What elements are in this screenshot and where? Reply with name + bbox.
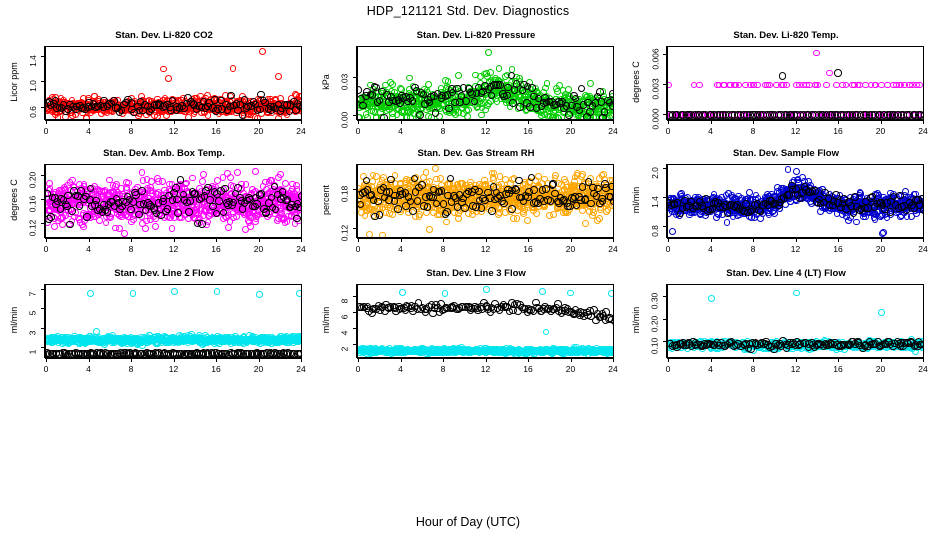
y-tick-label-wrap: 0.12 bbox=[33, 228, 43, 245]
data-point bbox=[524, 217, 531, 224]
data-point bbox=[258, 190, 266, 198]
x-tick bbox=[174, 120, 175, 124]
y-axis-label-gas-stream-rh: percent bbox=[321, 170, 331, 230]
page-title: HDP_121121 Std. Dev. Diagnostics bbox=[0, 4, 936, 18]
data-point bbox=[416, 111, 424, 119]
y-tick bbox=[41, 107, 45, 108]
data-point bbox=[530, 186, 538, 194]
y-tick-label-wrap: 0.000 bbox=[655, 119, 665, 140]
y-tick-label-wrap: 0.12 bbox=[345, 233, 355, 250]
x-tick-label: 24 bbox=[608, 244, 617, 254]
y-tick-label: 0.12 bbox=[340, 225, 350, 242]
data-point bbox=[172, 184, 180, 192]
data-point bbox=[298, 192, 302, 200]
x-tick bbox=[46, 120, 47, 124]
data-point bbox=[205, 112, 212, 119]
data-point-outlier bbox=[834, 69, 842, 77]
data-point bbox=[359, 102, 367, 110]
data-point bbox=[582, 220, 589, 227]
x-tick-label: 16 bbox=[211, 126, 220, 136]
data-point bbox=[92, 197, 100, 205]
data-point bbox=[921, 111, 924, 119]
x-tick-label: 20 bbox=[566, 126, 575, 136]
y-tick-label: 0.03 bbox=[340, 73, 350, 90]
data-point bbox=[83, 213, 91, 221]
data-point bbox=[215, 197, 223, 205]
data-point bbox=[508, 205, 516, 213]
data-point bbox=[587, 80, 594, 87]
x-axis-li820-temp: 04812162024 bbox=[667, 120, 924, 126]
data-point-outlier bbox=[277, 171, 284, 178]
y-tick-label-wrap: 0.03 bbox=[345, 82, 355, 99]
data-point bbox=[465, 107, 472, 114]
y-tick-label-wrap: 0.00 bbox=[345, 120, 355, 137]
chart-panel-li820-pressure: Stan. Dev. Li-820 Pressure0.000.03kPa048… bbox=[320, 30, 632, 150]
data-point bbox=[515, 177, 523, 185]
data-point bbox=[426, 226, 433, 233]
data-point-outlier bbox=[669, 228, 676, 235]
y-tick-label-wrap: 0.16 bbox=[33, 204, 43, 221]
y-axis-label-li820-temp: degrees C bbox=[631, 52, 641, 112]
data-point bbox=[424, 203, 432, 211]
data-point bbox=[667, 82, 672, 89]
data-point-outlier bbox=[483, 70, 490, 77]
y-axis-li820-co2: 0.61.01.4 bbox=[39, 46, 45, 120]
chart-panel-sample-flow: Stan. Dev. Sample Flow0.81.42.0ml/min048… bbox=[630, 148, 936, 268]
data-point bbox=[138, 187, 146, 195]
data-point-outlier bbox=[121, 230, 128, 237]
data-point bbox=[69, 177, 76, 184]
x-tick bbox=[571, 238, 572, 242]
y-tick-label: 0.000 bbox=[650, 108, 660, 129]
y-tick bbox=[41, 175, 45, 176]
x-tick-label: 8 bbox=[441, 126, 446, 136]
data-point bbox=[169, 225, 176, 232]
data-point-outlier bbox=[160, 66, 167, 73]
data-point bbox=[51, 223, 58, 230]
data-point bbox=[823, 82, 830, 89]
x-axis-li820-pressure: 04812162024 bbox=[357, 120, 614, 126]
data-point bbox=[198, 220, 206, 228]
x-tick-label: 4 bbox=[398, 126, 403, 136]
x-tick-label: 24 bbox=[296, 126, 305, 136]
data-point bbox=[443, 208, 451, 216]
x-tick bbox=[301, 238, 302, 242]
x-axis-gas-stream-rh: 04812162024 bbox=[357, 238, 614, 244]
data-point bbox=[609, 90, 614, 98]
data-point bbox=[423, 169, 430, 176]
x-tick bbox=[613, 238, 614, 242]
y-axis-line bbox=[666, 46, 667, 120]
x-tick bbox=[89, 120, 90, 124]
x-tick-label: 0 bbox=[356, 126, 361, 136]
data-point bbox=[578, 85, 586, 93]
data-point bbox=[380, 174, 387, 181]
y-axis-label-li820-co2: Licor ppm bbox=[9, 52, 19, 112]
data-point bbox=[418, 181, 426, 189]
data-point bbox=[174, 209, 182, 217]
x-tick-label: 12 bbox=[481, 244, 490, 254]
x-tick-label: 0 bbox=[666, 126, 671, 136]
x-tick-label: 8 bbox=[129, 126, 134, 136]
x-tick-label: 16 bbox=[833, 126, 842, 136]
data-point bbox=[500, 200, 508, 208]
y-tick bbox=[663, 54, 667, 55]
data-point bbox=[59, 221, 66, 228]
data-point bbox=[610, 198, 614, 206]
panel-title-li820-co2: Stan. Dev. Li-820 CO2 bbox=[8, 30, 320, 41]
y-tick-label: 0.20 bbox=[28, 172, 38, 189]
x-axis-amb-box-temp: 04812162024 bbox=[45, 238, 302, 244]
data-point bbox=[432, 165, 439, 172]
data-point bbox=[447, 175, 455, 183]
x-tick bbox=[528, 120, 529, 124]
x-tick-label: 20 bbox=[254, 244, 263, 254]
y-tick-label: 0.16 bbox=[28, 196, 38, 213]
data-point bbox=[252, 168, 259, 175]
data-point bbox=[544, 80, 551, 87]
data-point bbox=[724, 209, 732, 217]
data-point bbox=[66, 221, 74, 229]
plot-area-amb-box-temp bbox=[45, 164, 302, 238]
data-point bbox=[104, 208, 112, 216]
panel-title-li820-pressure: Stan. Dev. Li-820 Pressure bbox=[320, 30, 632, 41]
x-tick bbox=[358, 120, 359, 124]
data-point bbox=[443, 219, 450, 226]
data-point-outlier bbox=[779, 72, 787, 80]
data-point bbox=[225, 224, 232, 231]
plot-area-li820-co2 bbox=[45, 46, 302, 120]
data-point bbox=[406, 75, 413, 82]
x-tick-label: 24 bbox=[918, 126, 927, 136]
data-point bbox=[437, 175, 444, 182]
data-point bbox=[298, 93, 302, 100]
y-tick bbox=[663, 114, 667, 115]
data-point bbox=[152, 223, 159, 230]
x-tick-label: 24 bbox=[608, 126, 617, 136]
data-point bbox=[587, 200, 595, 208]
data-point-outlier bbox=[366, 231, 373, 238]
data-point bbox=[478, 204, 486, 212]
data-point-outlier bbox=[275, 73, 282, 80]
data-point bbox=[164, 205, 172, 213]
data-point bbox=[256, 106, 264, 114]
data-point bbox=[221, 185, 229, 193]
data-point bbox=[696, 82, 703, 89]
y-tick bbox=[41, 199, 45, 200]
y-tick-label-wrap: 0.006 bbox=[655, 59, 665, 80]
x-axis-li820-co2: 04812162024 bbox=[45, 120, 302, 126]
data-point bbox=[183, 180, 190, 187]
data-point bbox=[296, 204, 302, 212]
data-point-outlier bbox=[142, 225, 149, 232]
x-tick-label: 12 bbox=[169, 126, 178, 136]
data-point bbox=[125, 180, 132, 187]
y-tick-label: 0.003 bbox=[650, 78, 660, 99]
data-point bbox=[528, 84, 536, 92]
data-point bbox=[853, 219, 860, 226]
data-point-outlier bbox=[579, 171, 586, 178]
x-tick bbox=[301, 120, 302, 124]
x-tick bbox=[89, 238, 90, 242]
x-tick bbox=[216, 238, 217, 242]
x-tick-label: 4 bbox=[398, 244, 403, 254]
x-tick bbox=[486, 120, 487, 124]
x-tick-label: 4 bbox=[708, 126, 713, 136]
y-axis-line bbox=[356, 164, 357, 238]
x-tick-label: 20 bbox=[876, 126, 885, 136]
data-point bbox=[512, 186, 520, 194]
x-tick bbox=[443, 120, 444, 124]
x-tick-label: 8 bbox=[751, 126, 756, 136]
y-tick-label-wrap: 1.0 bbox=[33, 86, 43, 98]
x-tick bbox=[131, 238, 132, 242]
data-point bbox=[783, 82, 790, 89]
data-point bbox=[234, 184, 242, 192]
panel-title-li820-temp: Stan. Dev. Li-820 Temp. bbox=[630, 30, 936, 41]
x-tick-label: 8 bbox=[441, 244, 446, 254]
data-point bbox=[159, 178, 166, 185]
data-point bbox=[376, 211, 384, 219]
data-point bbox=[814, 82, 821, 89]
y-tick-label: 1.0 bbox=[28, 80, 38, 92]
x-tick-label: 16 bbox=[211, 244, 220, 254]
data-point bbox=[299, 103, 302, 111]
data-point bbox=[47, 213, 55, 221]
x-tick-label: 12 bbox=[791, 126, 800, 136]
data-point bbox=[702, 195, 710, 203]
x-tick-label: 4 bbox=[86, 126, 91, 136]
data-point bbox=[746, 189, 753, 196]
data-point bbox=[440, 200, 448, 208]
data-point bbox=[455, 72, 462, 79]
y-tick bbox=[353, 77, 357, 78]
data-point-outlier bbox=[234, 169, 241, 176]
data-point bbox=[754, 82, 761, 89]
data-point bbox=[514, 215, 521, 222]
y-tick-label: 1.4 bbox=[28, 55, 38, 67]
y-tick-label-wrap: 0.6 bbox=[33, 112, 43, 124]
data-point bbox=[724, 219, 731, 226]
data-point-outlier bbox=[485, 49, 492, 56]
plot-area-gas-stream-rh bbox=[357, 164, 614, 238]
y-tick bbox=[41, 81, 45, 82]
x-tick bbox=[486, 238, 487, 242]
data-point bbox=[76, 202, 84, 210]
data-point bbox=[68, 207, 76, 215]
data-point bbox=[496, 81, 504, 89]
y-tick-label-wrap: 0.003 bbox=[655, 89, 665, 110]
panel-title-gas-stream-rh: Stan. Dev. Gas Stream RH bbox=[320, 148, 632, 159]
x-tick bbox=[838, 120, 839, 124]
x-tick bbox=[401, 120, 402, 124]
data-point bbox=[416, 211, 423, 218]
data-point bbox=[185, 208, 193, 216]
data-point bbox=[461, 204, 469, 212]
data-point bbox=[462, 97, 470, 105]
data-point bbox=[432, 109, 440, 117]
panel-title-amb-box-temp: Stan. Dev. Amb. Box Temp. bbox=[8, 148, 320, 159]
x-tick bbox=[46, 238, 47, 242]
x-tick bbox=[613, 120, 614, 124]
y-tick bbox=[353, 189, 357, 190]
data-point-outlier bbox=[165, 75, 172, 82]
x-tick bbox=[711, 120, 712, 124]
data-point-outlier bbox=[826, 70, 833, 77]
data-point bbox=[96, 217, 103, 224]
y-tick bbox=[41, 223, 45, 224]
y-axis-amb-box-temp: 0.120.160.20 bbox=[39, 164, 45, 238]
data-point-outlier bbox=[813, 50, 820, 57]
y-axis-line bbox=[44, 46, 45, 120]
x-tick-label: 12 bbox=[169, 244, 178, 254]
data-point bbox=[609, 102, 614, 110]
data-point bbox=[513, 80, 521, 88]
data-point bbox=[262, 209, 270, 217]
y-tick bbox=[41, 56, 45, 57]
x-tick bbox=[668, 120, 669, 124]
data-point bbox=[464, 113, 471, 120]
data-point bbox=[409, 97, 417, 105]
x-tick bbox=[571, 120, 572, 124]
y-tick-label-wrap: 1.4 bbox=[33, 61, 43, 73]
data-point bbox=[425, 81, 432, 88]
plot-area-li820-temp bbox=[667, 46, 924, 120]
data-point-outlier bbox=[880, 229, 887, 236]
x-tick-label: 20 bbox=[566, 244, 575, 254]
x-tick bbox=[131, 120, 132, 124]
y-tick bbox=[353, 228, 357, 229]
data-point bbox=[394, 205, 402, 213]
data-point bbox=[590, 209, 597, 216]
y-axis-label-amb-box-temp: degrees C bbox=[9, 170, 19, 230]
y-axis-li820-temp: 0.0000.0030.006 bbox=[661, 46, 667, 120]
plot-area-li820-pressure bbox=[357, 46, 614, 120]
data-point bbox=[488, 207, 496, 215]
x-tick bbox=[259, 238, 260, 242]
x-tick-label: 0 bbox=[44, 244, 49, 254]
x-tick-label: 0 bbox=[356, 244, 361, 254]
panel-title-sample-flow: Stan. Dev. Sample Flow bbox=[630, 148, 936, 159]
data-point-outlier bbox=[259, 48, 266, 55]
data-point bbox=[409, 207, 417, 215]
x-tick bbox=[259, 120, 260, 124]
y-tick-label: 0.18 bbox=[340, 186, 350, 203]
chart-panel-amb-box-temp: Stan. Dev. Amb. Box Temp.0.120.160.20deg… bbox=[8, 148, 320, 268]
plot-area-sample-flow bbox=[667, 164, 924, 238]
data-point bbox=[80, 224, 87, 231]
data-point bbox=[186, 197, 194, 205]
chart-panel-li820-temp: Stan. Dev. Li-820 Temp.0.0000.0030.006de… bbox=[630, 30, 936, 150]
y-tick-label: 0.12 bbox=[28, 220, 38, 237]
data-point bbox=[596, 215, 603, 222]
data-point bbox=[550, 211, 557, 218]
data-point bbox=[227, 174, 234, 181]
y-axis-line bbox=[356, 46, 357, 120]
x-tick bbox=[528, 238, 529, 242]
x-tick bbox=[443, 238, 444, 242]
y-tick-label-wrap: 0.20 bbox=[33, 180, 43, 197]
data-point bbox=[389, 81, 396, 88]
data-point bbox=[596, 88, 604, 96]
data-point bbox=[239, 111, 247, 119]
x-tick bbox=[174, 238, 175, 242]
x-tick-label: 4 bbox=[86, 244, 91, 254]
data-point bbox=[533, 210, 540, 217]
chart-panel-gas-stream-rh: Stan. Dev. Gas Stream RH0.120.18percent0… bbox=[320, 148, 632, 268]
y-tick bbox=[663, 84, 667, 85]
data-point bbox=[608, 183, 614, 191]
x-tick bbox=[753, 120, 754, 124]
y-axis-gas-stream-rh: 0.120.18 bbox=[351, 164, 357, 238]
x-tick bbox=[401, 238, 402, 242]
x-tick-label: 24 bbox=[296, 244, 305, 254]
x-tick bbox=[881, 120, 882, 124]
y-axis-label-li820-pressure: kPa bbox=[321, 52, 331, 112]
x-tick-label: 16 bbox=[523, 126, 532, 136]
data-point bbox=[496, 65, 503, 72]
y-axis-li820-pressure: 0.000.03 bbox=[351, 46, 357, 120]
x-tick bbox=[216, 120, 217, 124]
data-point bbox=[189, 175, 196, 182]
data-point bbox=[139, 169, 146, 176]
x-tick bbox=[796, 120, 797, 124]
data-point bbox=[916, 82, 923, 89]
data-point bbox=[227, 92, 235, 100]
x-tick-label: 16 bbox=[523, 244, 532, 254]
y-tick-label: 0.006 bbox=[650, 48, 660, 69]
y-tick-label-wrap: 0.18 bbox=[345, 194, 355, 211]
data-point-outlier bbox=[230, 65, 237, 72]
data-point bbox=[200, 171, 207, 178]
data-point bbox=[549, 180, 557, 188]
chart-panel-li820-co2: Stan. Dev. Li-820 CO20.61.01.4Licor ppm0… bbox=[8, 30, 320, 150]
y-tick-label: 0.00 bbox=[340, 112, 350, 129]
x-tick-label: 12 bbox=[481, 126, 490, 136]
x-tick-label: 8 bbox=[129, 244, 134, 254]
x-tick bbox=[923, 120, 924, 124]
y-tick bbox=[353, 115, 357, 116]
x-tick-label: 20 bbox=[254, 126, 263, 136]
data-point bbox=[565, 111, 573, 119]
x-tick-label: 0 bbox=[44, 126, 49, 136]
data-point bbox=[357, 86, 362, 94]
y-tick-label: 0.6 bbox=[28, 106, 38, 118]
data-point-outlier bbox=[785, 166, 792, 173]
x-tick bbox=[358, 238, 359, 242]
